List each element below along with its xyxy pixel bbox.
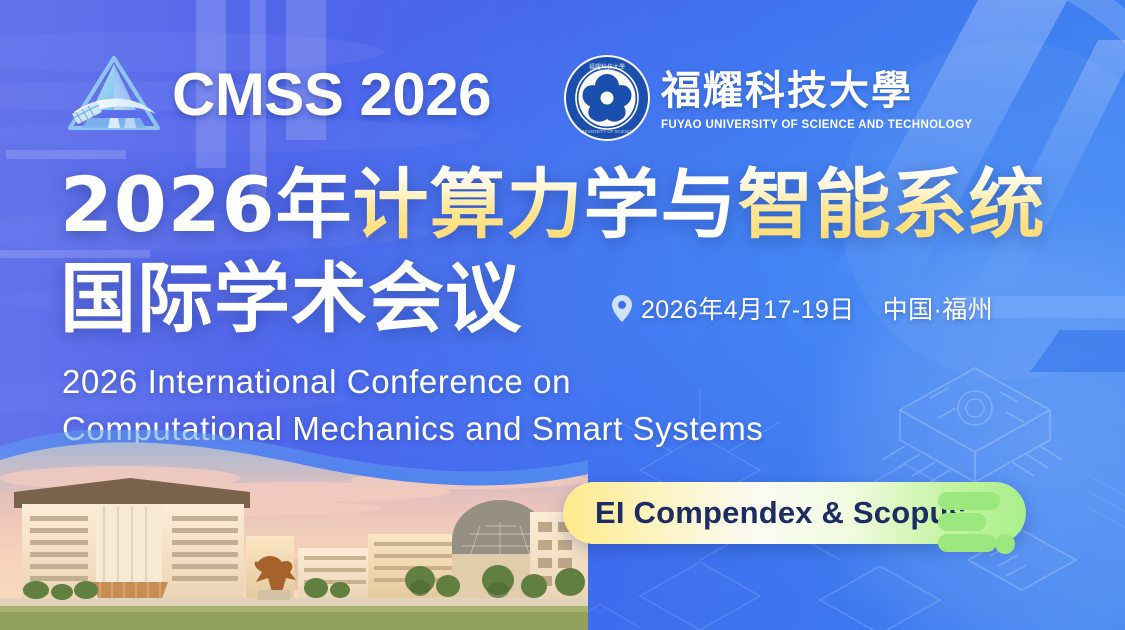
headline-en-line-1: 2026 International Conference on — [62, 358, 763, 405]
event-meta: 2026年4月17-19日 中国·福州 — [612, 290, 993, 326]
university-lockup: 福耀科技大學 UNIVERSITY OF SCIENCE 福耀科技大學 FUYA… — [563, 52, 972, 144]
university-name-en: FUYAO UNIVERSITY OF SCIENCE AND TECHNOLO… — [661, 119, 972, 131]
brand-header: CMSS 2026 — [62, 48, 491, 142]
university-name-cn: 福耀科技大學 — [661, 70, 972, 112]
fuyao-university-seal-icon: 福耀科技大學 UNIVERSITY OF SCIENCE — [563, 54, 651, 142]
headline-seg-year: 2026年 — [60, 160, 353, 249]
svg-text:福耀科技大學: 福耀科技大學 — [589, 63, 625, 71]
svg-text:UNIVERSITY OF SCIENCE: UNIVERSITY OF SCIENCE — [580, 129, 634, 134]
ei-e-mark-icon — [933, 486, 1019, 558]
university-names: 福耀科技大學 FUYAO UNIVERSITY OF SCIENCE AND T… — [661, 66, 972, 131]
headline-seg-compmech-b: 学与 — [584, 160, 738, 249]
cmss-pyramid-bridge-logo — [62, 52, 166, 138]
conference-banner: CMSS 2026 福耀科技大學 UNIVERSITY OF SCIENCE — [0, 0, 1125, 630]
location-pin-icon — [612, 295, 632, 322]
headline-seg-compmech-a: 计算力 — [353, 160, 584, 249]
headline-cn-line-1: 2026年计算力学与智能系统 — [60, 158, 1090, 252]
event-date: 2026年4月17-19日 — [641, 290, 855, 326]
index-badge: EI Compendex & Scopus — [563, 482, 1026, 544]
campus-photo — [0, 430, 588, 630]
headline-seg-intlconf: 国际学术会议 — [60, 254, 522, 343]
conference-acronym-title: CMSS 2026 — [172, 65, 491, 125]
index-badge-label: EI Compendex & Scopus — [595, 495, 966, 531]
headline-seg-smartsystems: 智能系统 — [738, 160, 1046, 249]
event-place: 中国·福州 — [883, 290, 993, 326]
